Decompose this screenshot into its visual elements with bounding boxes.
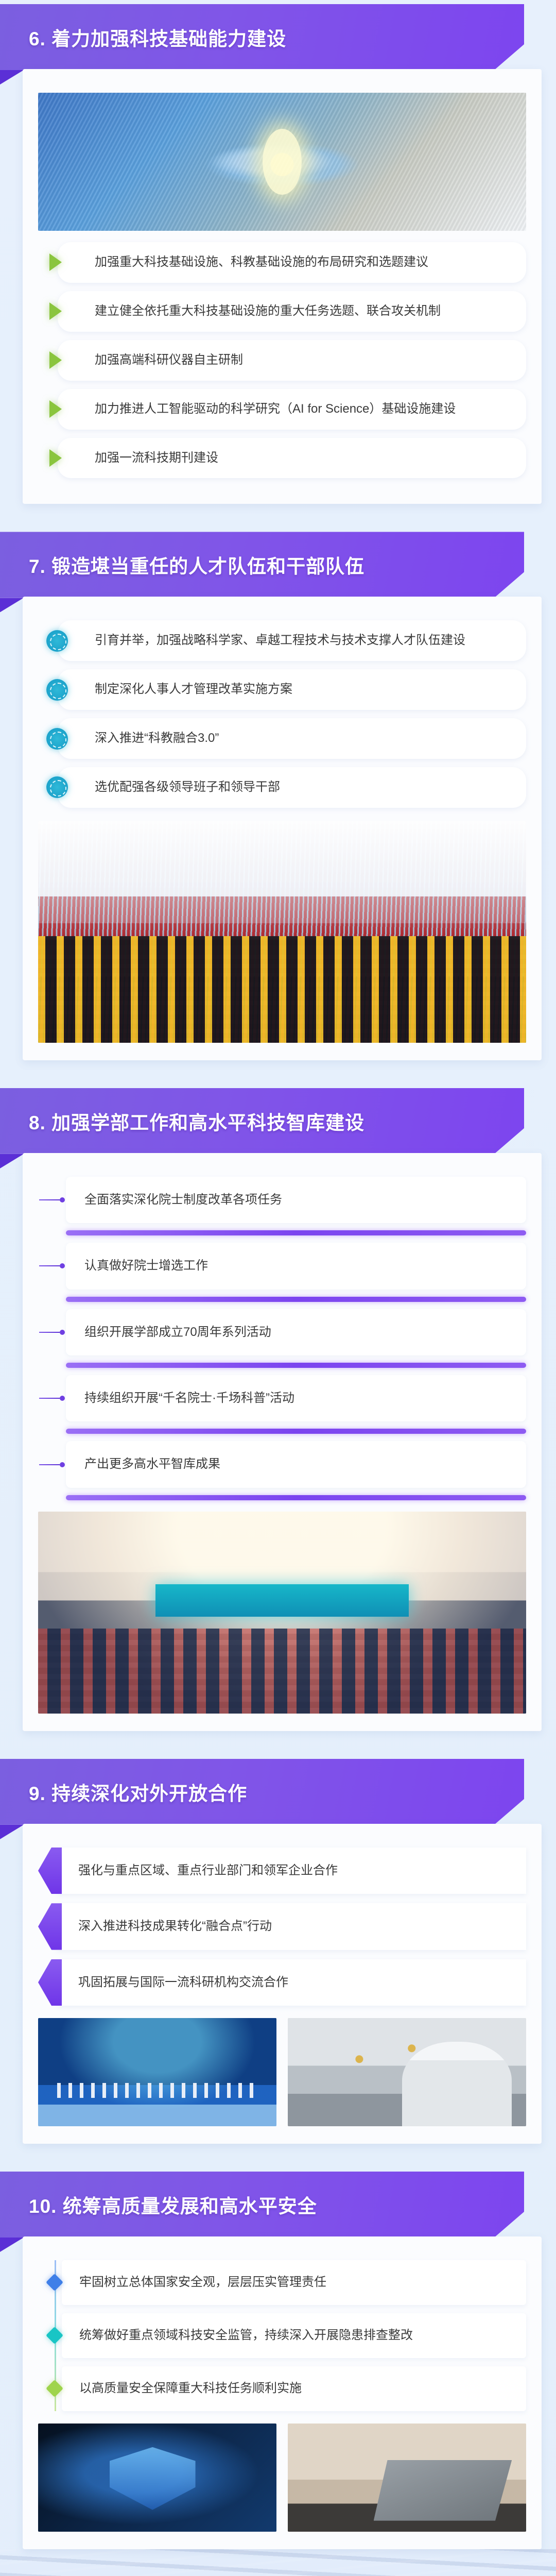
section-8-photo: [38, 1512, 526, 1714]
list-item-label: 建立健全依托重大科技基础设施的重大任务选题、联合攻关机制: [95, 301, 441, 321]
diamond-bullet-icon: [46, 2274, 63, 2291]
ribbon-fold-icon: [0, 598, 24, 612]
list-item[interactable]: 牢固树立总体国家安全观，层层压实管理责任: [62, 2260, 526, 2305]
divider: [66, 1495, 526, 1500]
section-8-title: 8. 加强学部工作和高水平科技智库建设: [29, 1107, 364, 1135]
list-item-label: 深入推进“科教融合3.0”: [95, 728, 219, 749]
section-10-photo-office: [288, 2424, 526, 2532]
list-item-label: 引育并举，加强战略科学家、卓越工程技术与技术支撑人才队伍建设: [95, 631, 465, 651]
section-10: 10. 统筹高质量发展和高水平安全 牢固树立总体国家安全观，层层压实管理责任 统…: [0, 2167, 556, 2549]
triangle-bullet-icon: [49, 400, 62, 418]
ribbon-fold-icon: [0, 2238, 24, 2252]
triangle-bullet-icon: [49, 253, 62, 271]
section-6-title: 6. 着力加强科技基础能力建设: [29, 23, 286, 51]
closing-block: 2025 百舸争流千帆竞 攻坚克难奋者先 新的一年，让我们更加紧密地团结在以习近…: [0, 2549, 556, 2576]
ribbon-fold-icon: [0, 1825, 24, 1839]
section-7: 7. 锻造堪当重任的人才队伍和干部队伍 引育并举，加强战略科学家、卓越工程技术与…: [0, 528, 556, 1060]
section-8-card: 全面落实深化院士制度改革各项任务 认真做好院士增选工作 组织开展学部成立70周年…: [23, 1153, 542, 1731]
section-9: 9. 持续深化对外开放合作 强化与重点区域、重点行业部门和领军企业合作 深入推进…: [0, 1755, 556, 2144]
section-10-card: 牢固树立总体国家安全观，层层压实管理责任 统筹做好重点领域科技安全监管，持续深入…: [23, 2236, 542, 2549]
triangle-bullet-icon: [49, 351, 62, 369]
list-item-label: 加强重大科技基础设施、科教基础设施的布局研究和选题建议: [95, 252, 428, 273]
section-9-header: 9. 持续深化对外开放合作: [0, 1755, 556, 1831]
list-item-label: 加强一流科技期刊建设: [95, 448, 218, 468]
watercolor-sea-illustration: 2025 百舸争流千帆竞 攻坚克难奋者先: [0, 2549, 556, 2576]
section-9-photo-pair: [38, 2018, 526, 2126]
section-7-title: 7. 锻造堪当重任的人才队伍和干部队伍: [29, 551, 364, 579]
section-6: 6. 着力加强科技基础能力建设 加强重大科技基础设施、科教基础设施的布局研究和选…: [0, 0, 556, 504]
section-7-photo: [38, 821, 526, 1043]
section-9-card: 强化与重点区域、重点行业部门和领军企业合作 深入推进科技成果转化“融合点”行动 …: [23, 1824, 542, 2144]
section-7-header: 7. 锻造堪当重任的人才队伍和干部队伍: [0, 528, 556, 604]
arrow-bullet-icon: [39, 1396, 65, 1401]
arrow-bullet-icon: [39, 1330, 65, 1335]
list-item[interactable]: 引育并举，加强战略科学家、卓越工程技术与技术支撑人才队伍建设: [58, 620, 526, 661]
list-item-label: 选优配强各级领导班子和领导干部: [95, 777, 280, 798]
list-item[interactable]: 强化与重点区域、重点行业部门和领军企业合作: [57, 1848, 526, 1894]
diamond-bullet-icon: [46, 2327, 63, 2344]
divider: [66, 1230, 526, 1235]
ring-bullet-icon: [46, 776, 68, 798]
ring-bullet-icon: [46, 679, 68, 701]
section-10-title: 10. 统筹高质量发展和高水平安全: [29, 2191, 317, 2218]
ribbon-fold-icon: [0, 1154, 24, 1168]
arrow-bullet-icon: [39, 1197, 65, 1202]
list-item[interactable]: 巩固拓展与国际一流科研机构交流合作: [57, 1959, 526, 2006]
section-10-photo-security: [38, 2424, 276, 2532]
arrow-bullet-icon: [39, 1263, 65, 1268]
list-item-label: 统筹做好重点领域科技安全监管，持续深入开展隐患排查整改: [79, 2326, 413, 2346]
chevron-bullet-icon: [38, 1959, 62, 2006]
chevron-bullet-icon: [38, 1848, 62, 1894]
section-header-ribbon: 7. 锻造堪当重任的人才队伍和干部队伍: [0, 532, 524, 598]
list-item[interactable]: 以高质量安全保障重大科技任务顺利实施: [62, 2366, 526, 2411]
arrow-bullet-icon: [39, 1462, 65, 1467]
divider: [66, 1363, 526, 1368]
section-10-header: 10. 统筹高质量发展和高水平安全: [0, 2167, 556, 2244]
divider: [66, 1297, 526, 1302]
list-item-label: 加强高端科研仪器自主研制: [95, 350, 243, 370]
triangle-bullet-icon: [49, 302, 62, 320]
list-item[interactable]: 产出更多高水平智库成果: [66, 1441, 526, 1487]
list-item-label: 以高质量安全保障重大科技任务顺利实施: [79, 2379, 302, 2399]
list-item[interactable]: 深入推进“科教融合3.0”: [58, 718, 526, 759]
chevron-bullet-icon: [38, 1903, 62, 1950]
list-item-label: 制定深化人事人才管理改革实施方案: [95, 680, 292, 700]
section-6-card: 加强重大科技基础设施、科教基础设施的布局研究和选题建议 建立健全依托重大科技基础…: [23, 69, 542, 504]
list-item[interactable]: 选优配强各级领导班子和领导干部: [58, 767, 526, 808]
list-item[interactable]: 全面落实深化院士制度改革各项任务: [66, 1177, 526, 1223]
list-item[interactable]: 制定深化人事人才管理改革实施方案: [58, 669, 526, 710]
list-item[interactable]: 加强高端科研仪器自主研制: [58, 340, 526, 381]
list-item-label: 认真做好院士增选工作: [84, 1256, 208, 1276]
section-7-card: 引育并举，加强战略科学家、卓越工程技术与技术支撑人才队伍建设 制定深化人事人才管…: [23, 597, 542, 1060]
section-header-ribbon: 6. 着力加强科技基础能力建设: [0, 4, 524, 70]
ring-bullet-icon: [46, 630, 68, 652]
list-item-label: 组织开展学部成立70周年系列活动: [84, 1323, 271, 1342]
section-8: 8. 加强学部工作和高水平科技智库建设 全面落实深化院士制度改革各项任务 认真做…: [0, 1084, 556, 1731]
section-6-photo: [38, 93, 526, 231]
list-item-label: 牢固树立总体国家安全观，层层压实管理责任: [79, 2273, 326, 2293]
list-item[interactable]: 加力推进人工智能驱动的科学研究（AI for Science）基础设施建设: [58, 389, 526, 430]
list-item-label: 持续组织开展“千名院士·千场科普”活动: [84, 1388, 294, 1408]
ribbon-fold-icon: [0, 70, 24, 84]
section-header-ribbon: 10. 统筹高质量发展和高水平安全: [0, 2172, 524, 2238]
triangle-bullet-icon: [49, 449, 62, 467]
diamond-bullet-icon: [46, 2380, 63, 2397]
ring-bullet-icon: [46, 728, 68, 750]
section-header-ribbon: 9. 持续深化对外开放合作: [0, 1759, 524, 1825]
list-item[interactable]: 加强重大科技基础设施、科教基础设施的布局研究和选题建议: [58, 242, 526, 283]
section-9-photo-forum: [38, 2018, 276, 2126]
list-item-label: 巩固拓展与国际一流科研机构交流合作: [78, 1973, 288, 1992]
list-item-label: 全面落实深化院士制度改革各项任务: [84, 1190, 282, 1210]
section-10-photo-pair: [38, 2424, 526, 2532]
list-item[interactable]: 认真做好院士增选工作: [66, 1243, 526, 1289]
list-item-label: 产出更多高水平智库成果: [84, 1454, 220, 1474]
list-item[interactable]: 加强一流科技期刊建设: [58, 438, 526, 479]
list-item-label: 强化与重点区域、重点行业部门和领军企业合作: [78, 1861, 338, 1880]
list-item[interactable]: 统筹做好重点领域科技安全监管，持续深入开展隐患排查整改: [62, 2313, 526, 2358]
list-item[interactable]: 组织开展学部成立70周年系列活动: [66, 1309, 526, 1355]
list-item-label: 深入推进科技成果转化“融合点”行动: [78, 1917, 272, 1936]
list-item[interactable]: 深入推进科技成果转化“融合点”行动: [57, 1903, 526, 1950]
list-item[interactable]: 持续组织开展“千名院士·千场科普”活动: [66, 1375, 526, 1421]
section-8-header: 8. 加强学部工作和高水平科技智库建设: [0, 1084, 556, 1160]
infographic-page: 6. 着力加强科技基础能力建设 加强重大科技基础设施、科教基础设施的布局研究和选…: [0, 0, 556, 2576]
list-item-label: 加力推进人工智能驱动的科学研究（AI for Science）基础设施建设: [95, 399, 456, 419]
divider: [66, 1429, 526, 1434]
list-item[interactable]: 建立健全依托重大科技基础设施的重大任务选题、联合攻关机制: [58, 291, 526, 332]
section-9-photo-lab: [288, 2018, 526, 2126]
section-9-title: 9. 持续深化对外开放合作: [29, 1778, 247, 1806]
section-6-header: 6. 着力加强科技基础能力建设: [0, 0, 556, 76]
section-header-ribbon: 8. 加强学部工作和高水平科技智库建设: [0, 1088, 524, 1154]
